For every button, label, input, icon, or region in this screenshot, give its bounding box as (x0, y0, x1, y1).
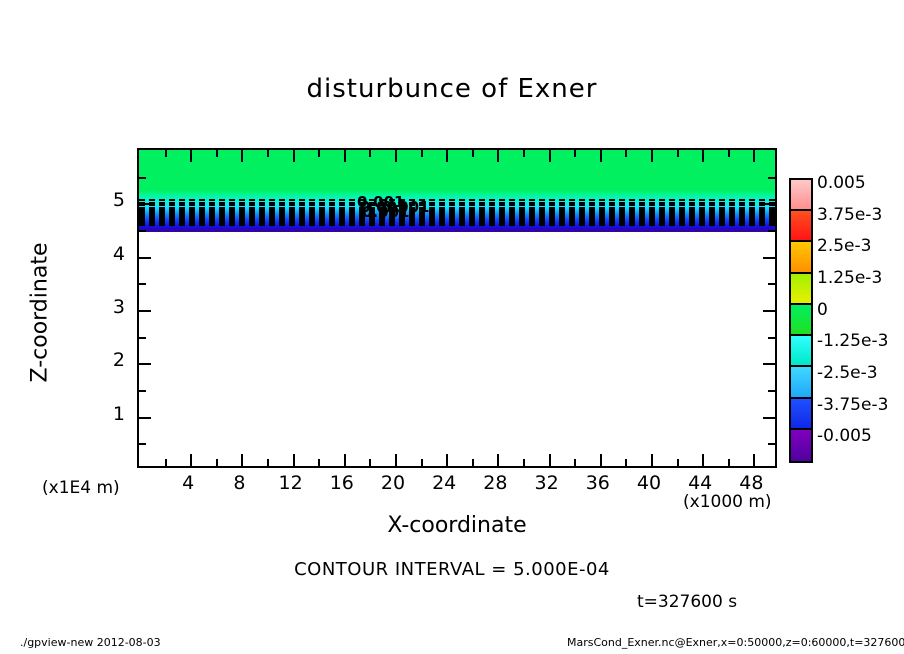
plot-area: 0.0010.0020.0010.001 (137, 148, 777, 468)
x-tick-minor (574, 459, 576, 466)
x-tick-major (344, 454, 346, 466)
x-tick-major (651, 454, 653, 466)
x-tick-label: 44 (675, 472, 725, 494)
contour-interval-label: CONTOUR INTERVAL = 5.000E-04 (0, 559, 904, 580)
x-axis-title: X-coordinate (137, 513, 777, 538)
y-tick-major (139, 203, 151, 205)
x-tick-minor (318, 459, 320, 466)
y-tick-label: 2 (89, 349, 125, 371)
x-tick-label: 48 (726, 472, 776, 494)
colorbar-band (791, 399, 811, 430)
x-tick-major (600, 150, 602, 162)
x-tick-label: 16 (317, 472, 367, 494)
x-tick-minor (677, 459, 679, 466)
x-tick-label: 8 (214, 472, 264, 494)
x-tick-major (241, 150, 243, 162)
y-tick-minor (768, 230, 775, 232)
colorbar-tick-label: 2.5e-3 (817, 236, 871, 256)
x-tick-label: 24 (419, 472, 469, 494)
colorbar-tick-label: -3.75e-3 (817, 395, 888, 415)
x-tick-label: 12 (266, 472, 316, 494)
x-tick-minor (523, 459, 525, 466)
colorbar-band (791, 180, 811, 211)
footer-command-label: ./gpview-new 2012-08-03 (20, 636, 161, 649)
y-tick-minor (139, 443, 146, 445)
x-tick-minor (625, 150, 627, 157)
y-tick-major (139, 257, 151, 259)
y-tick-major (139, 417, 151, 419)
y-tick-label: 4 (89, 243, 125, 265)
x-tick-minor (267, 459, 269, 466)
x-tick-label: 28 (470, 472, 520, 494)
x-tick-major (241, 454, 243, 466)
x-tick-minor (574, 150, 576, 157)
y-tick-major (763, 310, 775, 312)
x-tick-minor (728, 150, 730, 157)
y-tick-major (763, 203, 775, 205)
x-tick-label: 4 (163, 472, 213, 494)
x-tick-minor (216, 459, 218, 466)
contour-value-label: 0.001 (362, 203, 409, 221)
x-tick-minor (625, 459, 627, 466)
y-tick-minor (768, 177, 775, 179)
colorbar-band (791, 305, 811, 336)
colorbar-band (791, 242, 811, 273)
x-tick-major (190, 150, 192, 162)
y-tick-label: 1 (89, 403, 125, 425)
x-tick-label: 36 (573, 472, 623, 494)
x-tick-major (600, 454, 602, 466)
time-label: t=327600 s (637, 592, 737, 612)
x-tick-minor (523, 150, 525, 157)
contour-line (139, 224, 775, 226)
y-tick-minor (139, 337, 146, 339)
x-tick-major (446, 150, 448, 162)
x-tick-major (753, 454, 755, 466)
y-tick-minor (768, 283, 775, 285)
x-tick-label: 32 (522, 472, 572, 494)
colorbar-band (791, 211, 811, 242)
y-tick-minor (768, 443, 775, 445)
colorbar-band (791, 367, 811, 398)
colorbar-band (791, 336, 811, 367)
chart-title: disturbunce of Exner (0, 74, 904, 104)
x-tick-minor (472, 150, 474, 157)
colorbar-band (791, 430, 811, 461)
y-axis-unit-label: (x1E4 m) (42, 478, 120, 498)
x-axis-unit-label: (x1000 m) (683, 492, 772, 512)
x-tick-major (190, 454, 192, 466)
footer-source-label: MarsCond_Exner.nc@Exner,x=0:50000,z=0:60… (567, 636, 904, 649)
y-tick-minor (768, 337, 775, 339)
x-tick-minor (369, 150, 371, 157)
x-tick-minor (165, 459, 167, 466)
x-tick-minor (728, 459, 730, 466)
x-tick-label: 20 (368, 472, 418, 494)
x-tick-minor (318, 150, 320, 157)
x-tick-major (497, 150, 499, 162)
colorbar-tick-label: 0.005 (817, 173, 866, 193)
y-tick-major (763, 363, 775, 365)
colorbar (789, 178, 813, 463)
x-tick-major (549, 454, 551, 466)
colorbar-band (791, 274, 811, 305)
y-tick-major (139, 363, 151, 365)
y-tick-label: 5 (89, 189, 125, 211)
colorbar-tick-label: 0 (817, 300, 828, 320)
x-tick-major (395, 454, 397, 466)
x-tick-major (293, 454, 295, 466)
x-tick-minor (421, 150, 423, 157)
y-tick-major (763, 257, 775, 259)
colorbar-tick-label: 1.25e-3 (817, 268, 882, 288)
contour-line (139, 199, 775, 201)
colorbar-tick-label: -0.005 (817, 426, 872, 446)
y-axis-title: Z-coordinate (28, 213, 53, 413)
y-tick-major (763, 417, 775, 419)
y-tick-minor (139, 283, 146, 285)
x-tick-minor (267, 150, 269, 157)
x-tick-minor (216, 150, 218, 157)
colorbar-tick-label: -1.25e-3 (817, 331, 888, 351)
y-tick-minor (768, 390, 775, 392)
x-tick-major (549, 150, 551, 162)
x-tick-major (753, 150, 755, 162)
y-tick-minor (139, 390, 146, 392)
x-tick-major (702, 454, 704, 466)
x-tick-minor (421, 459, 423, 466)
x-tick-minor (165, 150, 167, 157)
x-tick-major (446, 454, 448, 466)
y-tick-minor (139, 230, 146, 232)
x-tick-major (395, 150, 397, 162)
x-tick-major (651, 150, 653, 162)
x-tick-major (702, 150, 704, 162)
y-tick-minor (139, 177, 146, 179)
x-tick-major (293, 150, 295, 162)
x-tick-major (497, 454, 499, 466)
y-tick-major (139, 310, 151, 312)
x-tick-major (344, 150, 346, 162)
x-tick-label: 40 (624, 472, 674, 494)
y-tick-label: 3 (89, 296, 125, 318)
colorbar-tick-label: -2.5e-3 (817, 363, 878, 383)
x-tick-minor (472, 459, 474, 466)
x-tick-minor (677, 150, 679, 157)
x-tick-minor (369, 459, 371, 466)
colorbar-tick-label: 3.75e-3 (817, 205, 882, 225)
